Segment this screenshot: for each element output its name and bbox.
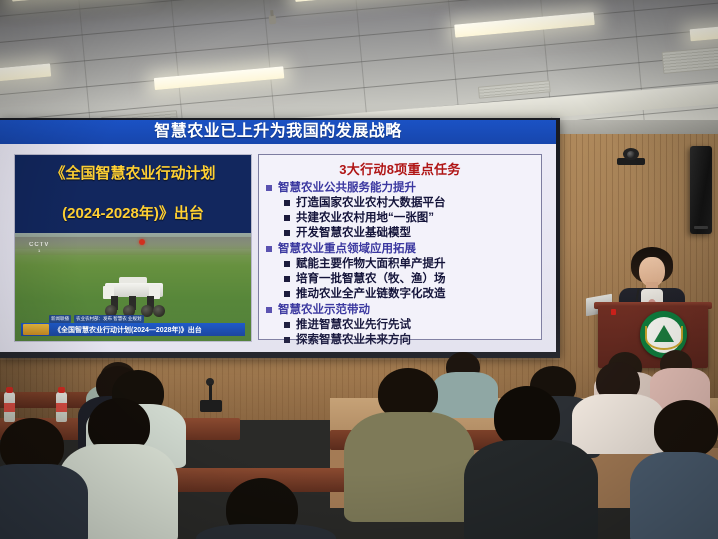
bullet-item: 培育一批智慧农（牧、渔）场	[284, 272, 536, 287]
tasks-heading: 3大行动8项重点任务	[264, 159, 536, 178]
podium-indicator-light	[611, 309, 616, 315]
headline-line-1: 《全国智慧农业行动计划	[50, 164, 215, 184]
headline-line-2: (2024-2028年)》出台	[50, 204, 215, 224]
bullet-square-icon	[266, 185, 272, 191]
screen-glare	[0, 300, 560, 360]
bullet-group-label: 智慧农业公共服务能力提升	[266, 181, 536, 196]
table-microphone-icon	[200, 400, 222, 412]
wall-speaker-icon	[690, 146, 712, 234]
bullet-item: 开发智慧农业基础模型	[284, 226, 536, 241]
bullet-square-icon	[284, 230, 290, 236]
bullet-item-text: 赋能主要作物大面积单产提升	[296, 257, 446, 272]
bullet-item: 共建农业农村用地“一张图”	[284, 211, 536, 226]
bullet-square-icon	[284, 215, 290, 221]
bullet-square-icon	[284, 276, 290, 282]
bullet-item-text: 培育一批智慧农（牧、渔）场	[296, 272, 446, 287]
bullet-item-text: 开发智慧农业基础模型	[296, 226, 411, 241]
water-bottle	[4, 392, 15, 422]
bullet-item: 打造国家农业农村大数据平台	[284, 196, 536, 211]
audience-torso	[344, 412, 474, 522]
audience-head	[654, 400, 718, 458]
water-bottle	[56, 392, 67, 422]
ceiling	[0, 0, 718, 132]
audience-torso	[0, 464, 88, 539]
bullet-square-icon	[284, 261, 290, 267]
audience-head	[494, 386, 560, 448]
audience-torso	[464, 440, 598, 539]
bullet-square-icon	[284, 291, 290, 297]
bullet-group-label: 智慧农业重点领域应用拓展	[266, 242, 536, 257]
bullet-item-text: 共建农业农村用地“一张图”	[296, 211, 434, 226]
screenshot-root: 智慧农业已上升为我国的发展战略 《全国智慧农业行动计划 (2024-2028年)…	[0, 0, 718, 539]
audience-torso	[432, 372, 498, 418]
group-label-text: 智慧农业公共服务能力提升	[278, 181, 416, 196]
audience-torso	[196, 524, 336, 539]
audience-torso	[572, 394, 664, 454]
bullet-item: 赋能主要作物大面积单产提升	[284, 257, 536, 272]
group-label-text: 智慧农业重点领域应用拓展	[278, 242, 416, 257]
mountain-icon	[654, 325, 674, 342]
left-panel-headline: 《全国智慧农业行动计划 (2024-2028年)》出台	[15, 155, 251, 233]
audience-torso	[630, 452, 718, 539]
emblem-inner	[646, 317, 682, 353]
bullet-item-text: 打造国家农业农村大数据平台	[296, 196, 446, 211]
bullet-square-icon	[284, 200, 290, 206]
slide-title-text: 智慧农业已上升为我国的发展战略	[0, 120, 556, 144]
ptz-camera-icon	[617, 148, 645, 165]
slide-title-bar: 智慧农业已上升为我国的发展战略	[0, 120, 556, 144]
cctv-watermark: CCTV 1	[29, 242, 49, 253]
field-marker	[139, 239, 145, 245]
bullet-square-icon	[266, 246, 272, 252]
